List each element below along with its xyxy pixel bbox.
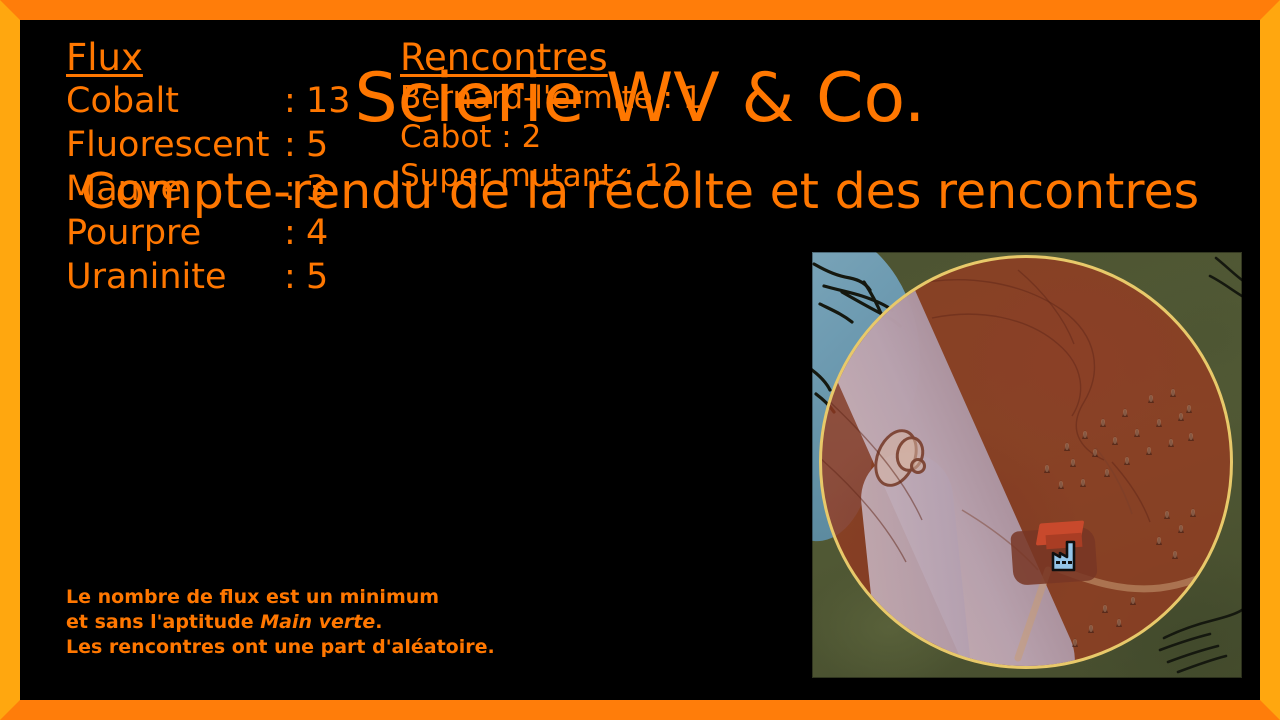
footnote-line-3: Les rencontres ont une part d'aléatoire. <box>66 635 495 660</box>
rencontres-section: Rencontres Bernard-l'ermite : 1 Cabot : … <box>400 37 703 196</box>
map-tree <box>1088 624 1094 633</box>
map-tree <box>1044 464 1050 473</box>
flux-value: 3 <box>306 167 328 211</box>
map-tree <box>1072 638 1078 647</box>
flux-section: Flux Cobalt:13 Fluorescent:5 Mauve:3 Pou… <box>66 37 351 299</box>
flux-separator: : <box>284 211 306 255</box>
flux-value: 4 <box>306 211 328 255</box>
map-circle-contents <box>819 255 1233 669</box>
map-tree <box>1112 436 1118 445</box>
poster-content: Scierie WV & Co. Compte-rendu de la réco… <box>20 20 1260 700</box>
map-tree <box>1190 508 1196 517</box>
flux-row: Mauve:3 <box>66 167 351 211</box>
flux-value: 5 <box>306 123 328 167</box>
rencontre-row: Bernard-l'ermite : 1 <box>400 79 703 118</box>
flux-row: Uraninite:5 <box>66 255 351 299</box>
map-tree <box>1170 388 1176 397</box>
flux-heading: Flux <box>66 37 351 79</box>
map-highlight-circle <box>819 255 1233 669</box>
map-tree <box>1168 438 1174 447</box>
map-tree <box>1156 418 1162 427</box>
flux-separator: : <box>284 167 306 211</box>
map-tree <box>1188 432 1194 441</box>
flux-separator: : <box>284 255 306 299</box>
footnote-perk-name: Main verte <box>260 611 375 633</box>
map-tree <box>1104 468 1110 477</box>
map-tree <box>1124 456 1130 465</box>
flux-name: Mauve <box>66 167 284 211</box>
map-tree <box>1134 428 1140 437</box>
map-tree <box>1122 408 1128 417</box>
map-tree <box>1148 394 1154 403</box>
rencontres-heading: Rencontres <box>400 37 703 79</box>
map-roads <box>819 255 1233 669</box>
flux-row: Fluorescent:5 <box>66 123 351 167</box>
flux-row: Cobalt:13 <box>66 79 351 123</box>
poster-frame: Scierie WV & Co. Compte-rendu de la réco… <box>0 0 1280 720</box>
flux-value: 5 <box>306 255 328 299</box>
map-tree <box>1102 604 1108 613</box>
footnote-line-2: et sans l'aptitude Main verte. <box>66 610 495 635</box>
map-tree <box>1064 442 1070 451</box>
map-tree <box>1156 536 1162 545</box>
flux-value: 13 <box>306 79 351 123</box>
map-tree <box>1164 510 1170 519</box>
map-tree <box>1130 596 1136 605</box>
flux-separator: : <box>284 123 306 167</box>
map-tree <box>1178 412 1184 421</box>
map-tree <box>1186 404 1192 413</box>
map-tree <box>1080 478 1086 487</box>
flux-name: Fluorescent <box>66 123 284 167</box>
footnote-line-2-before: et sans l'aptitude <box>66 611 260 633</box>
map-tree <box>1100 418 1106 427</box>
factory-icon[interactable] <box>1048 534 1088 574</box>
flux-name: Uraninite <box>66 255 284 299</box>
map-tree <box>1058 480 1064 489</box>
map-tree <box>1082 430 1088 439</box>
map-tree <box>1172 550 1178 559</box>
flux-separator: : <box>284 79 306 123</box>
footnote: Le nombre de flux est un minimum et sans… <box>66 585 495 660</box>
map-tree <box>1092 448 1098 457</box>
rencontre-row: Cabot : 2 <box>400 118 703 157</box>
world-map-thumbnail[interactable] <box>812 252 1242 678</box>
footnote-line-1: Le nombre de flux est un minimum <box>66 585 495 610</box>
flux-name: Cobalt <box>66 79 284 123</box>
rencontre-row: Super mutant : 12 <box>400 157 703 196</box>
flux-row: Pourpre:4 <box>66 211 351 255</box>
map-tree <box>1178 524 1184 533</box>
footnote-line-2-after: . <box>375 611 382 633</box>
flux-name: Pourpre <box>66 211 284 255</box>
map-tree <box>1146 446 1152 455</box>
map-tree <box>1070 458 1076 467</box>
map-tree <box>1116 618 1122 627</box>
